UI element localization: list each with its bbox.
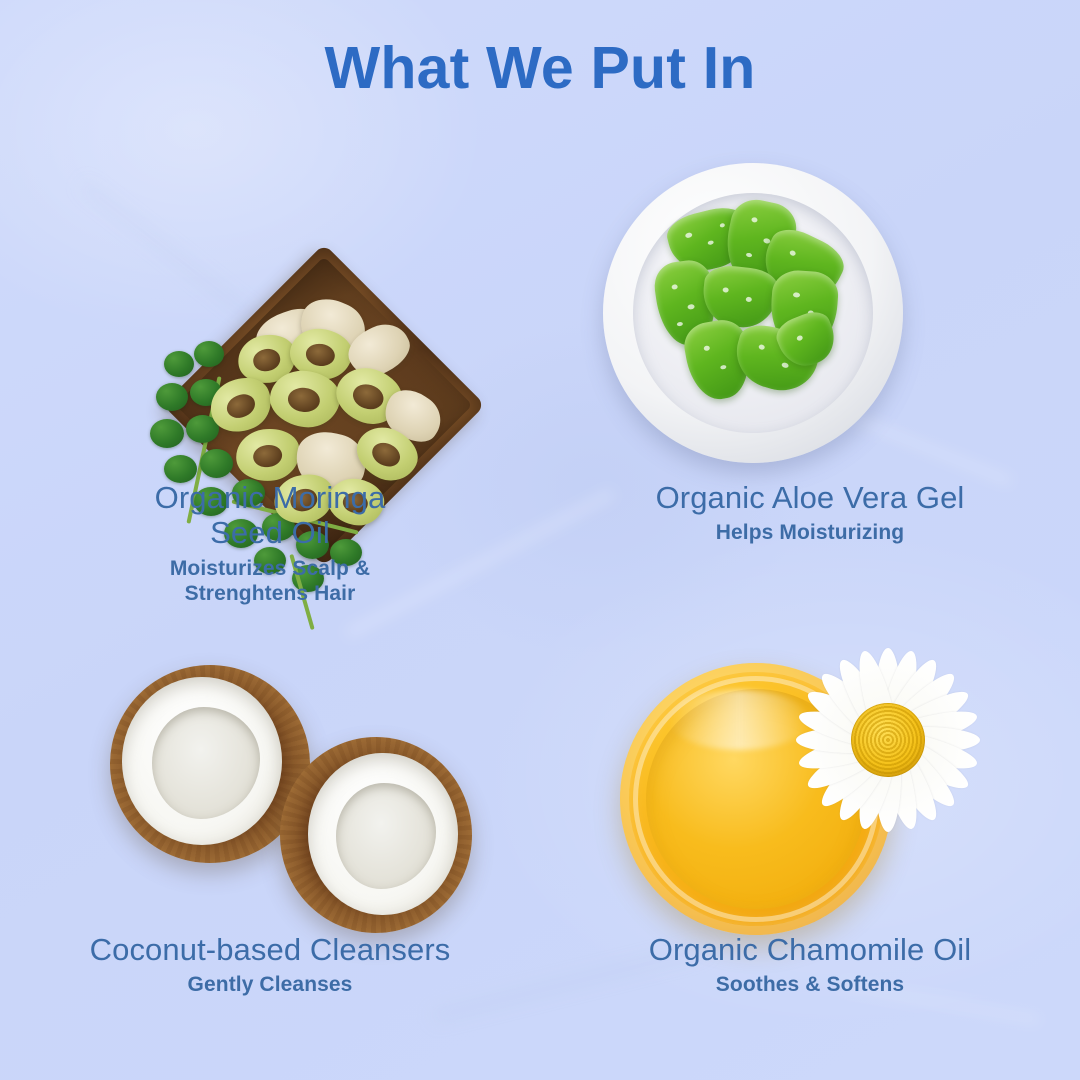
- ingredients-infographic: What We Put In: [0, 0, 1080, 1080]
- ingredient-name: Coconut-based Cleansers: [0, 932, 540, 967]
- ingredient-name-line1: Organic Chamomile Oil: [540, 932, 1080, 967]
- ingredient-name: Organic Aloe Vera Gel: [540, 480, 1080, 515]
- moringa-leaf: [200, 449, 233, 478]
- moringa-leaf: [194, 341, 224, 367]
- ingredient-card-moringa: Organic Moringa Seed Oil Moisturizes Sca…: [0, 140, 540, 610]
- moringa-caption: Organic Moringa Seed Oil Moisturizes Sca…: [0, 480, 540, 606]
- ingredient-benefit-line1: Moisturizes Scalp &: [0, 556, 540, 581]
- chamomile-caption: Organic Chamomile Oil Soothes & Softens: [540, 932, 1080, 998]
- ingredient-name: Organic Moringa Seed Oil: [0, 480, 540, 551]
- aloe-vera-image: [603, 163, 903, 463]
- ingredient-card-coconut: Coconut-based Cleansers Gently Cleanses: [0, 620, 540, 1020]
- chamomile-oil-image: [620, 655, 980, 945]
- ingredient-benefit-line1: Helps Moisturizing: [540, 520, 1080, 545]
- chamomile-flower: [790, 637, 986, 843]
- moringa-leaf: [164, 455, 197, 483]
- coconut-caption: Coconut-based Cleansers Gently Cleanses: [0, 932, 540, 998]
- ingredient-benefit: Gently Cleanses: [0, 972, 540, 997]
- ingredient-name-line1: Organic Moringa: [0, 480, 540, 515]
- ingredient-card-aloe-vera: Organic Aloe Vera Gel Helps Moisturizing: [540, 140, 1080, 610]
- ingredient-benefit: Soothes & Softens: [540, 972, 1080, 997]
- moringa-leaf: [164, 351, 194, 377]
- aloe-vera-caption: Organic Aloe Vera Gel Helps Moisturizing: [540, 480, 1080, 546]
- ingredient-benefit: Helps Moisturizing: [540, 520, 1080, 545]
- coconut-image: [100, 645, 490, 945]
- ingredient-benefit-line2: Strenghtens Hair: [0, 581, 540, 606]
- ingredient-name-line1: Coconut-based Cleansers: [0, 932, 540, 967]
- coconut-half-small: [280, 737, 472, 933]
- ingredient-benefit-line1: Soothes & Softens: [540, 972, 1080, 997]
- ingredient-benefit-line1: Gently Cleanses: [0, 972, 540, 997]
- ingredient-card-chamomile: Organic Chamomile Oil Soothes & Softens: [540, 620, 1080, 1020]
- ingredient-name-line1: Organic Aloe Vera Gel: [540, 480, 1080, 515]
- moringa-leaf: [150, 419, 184, 448]
- ingredient-name: Organic Chamomile Oil: [540, 932, 1080, 967]
- ingredient-name-line2: Seed Oil: [0, 515, 540, 550]
- moringa-leaf: [156, 383, 188, 411]
- page-title: What We Put In: [0, 36, 1080, 101]
- ingredient-benefit: Moisturizes Scalp & Strenghtens Hair: [0, 556, 540, 606]
- flower-center: [851, 703, 925, 777]
